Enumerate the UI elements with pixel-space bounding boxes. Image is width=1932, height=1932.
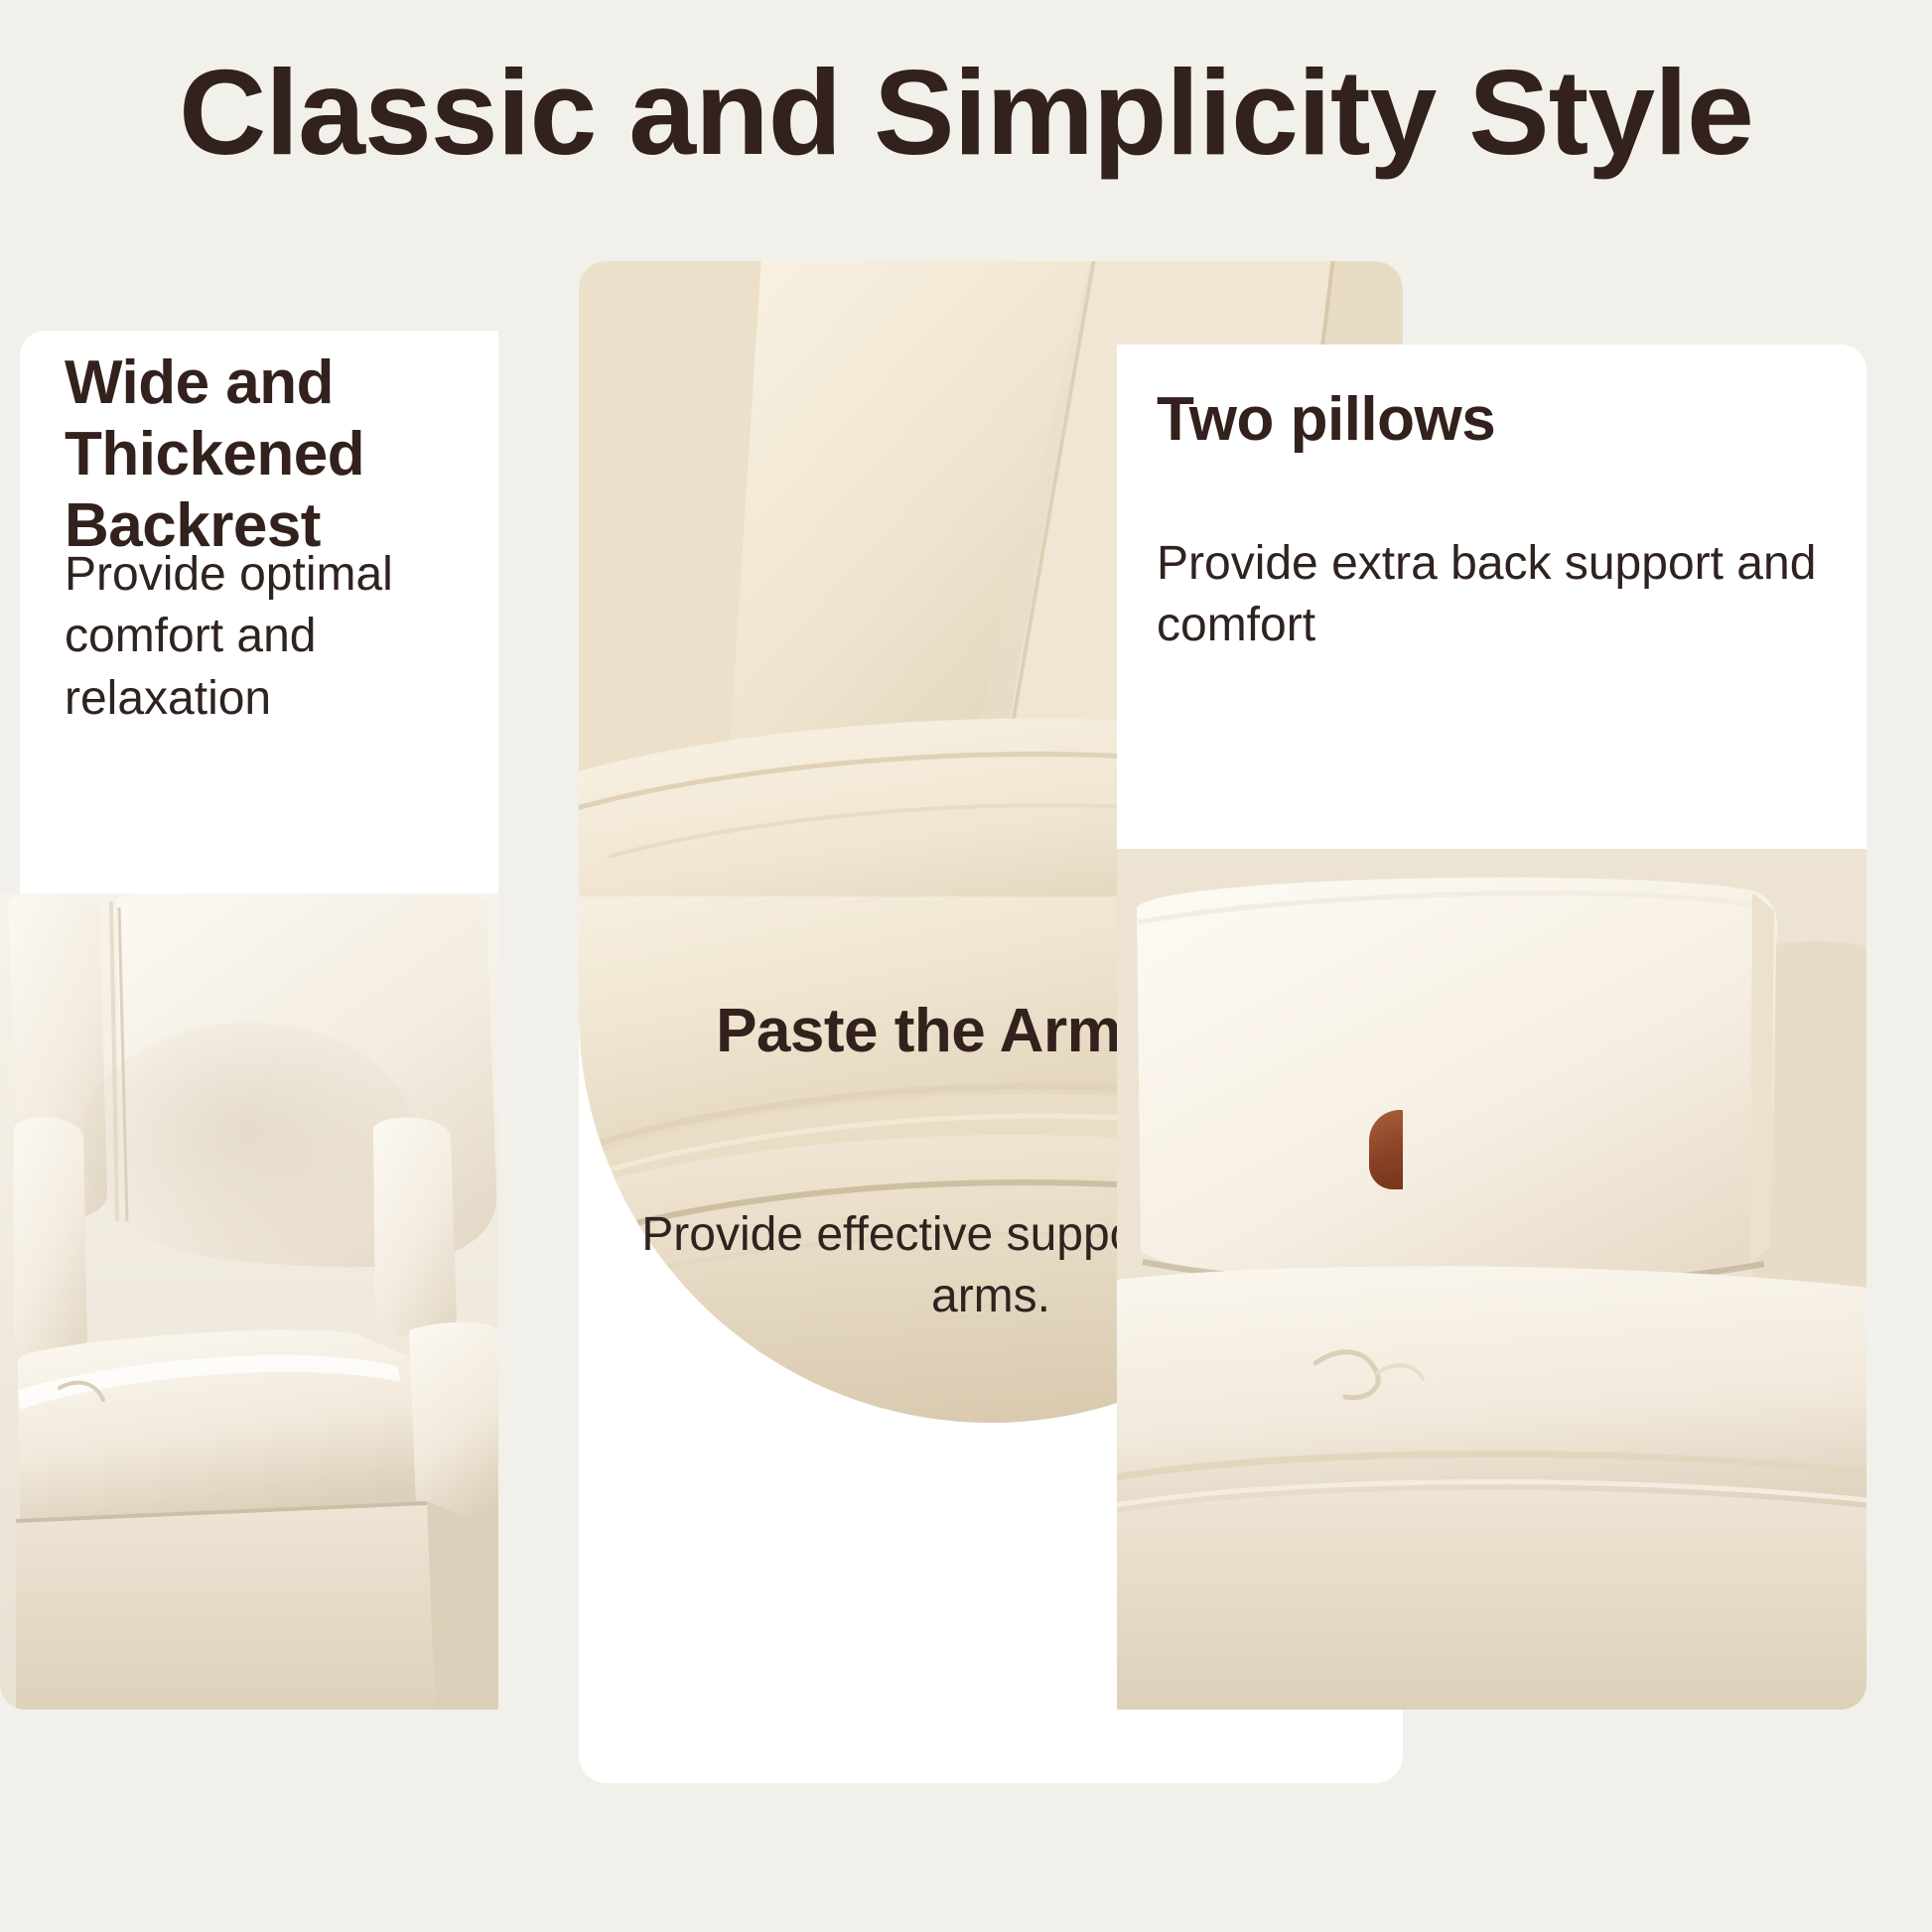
sofa-pillow-photo	[1117, 849, 1866, 1710]
feature-heading-backrest: Wide and Thickened Backrest	[65, 347, 482, 562]
wooden-leg-icon	[1369, 1110, 1403, 1189]
sofa-backrest-illustration	[0, 894, 498, 1710]
sofa-pillow-illustration	[1117, 849, 1866, 1710]
feature-card-pillows: Two pillows Provide extra back support a…	[1117, 345, 1866, 849]
feature-card-backrest: Wide and Thickened Backrest Provide opti…	[20, 331, 498, 898]
feature-heading-pillows: Two pillows	[1157, 384, 1842, 456]
feature-body-backrest: Provide optimal comfort and relaxation	[65, 544, 498, 730]
feature-body-pillows: Provide extra back support and comfort	[1157, 533, 1852, 657]
sofa-backrest-photo	[0, 894, 498, 1710]
page-title: Classic and Simplicity Style	[0, 48, 1932, 179]
